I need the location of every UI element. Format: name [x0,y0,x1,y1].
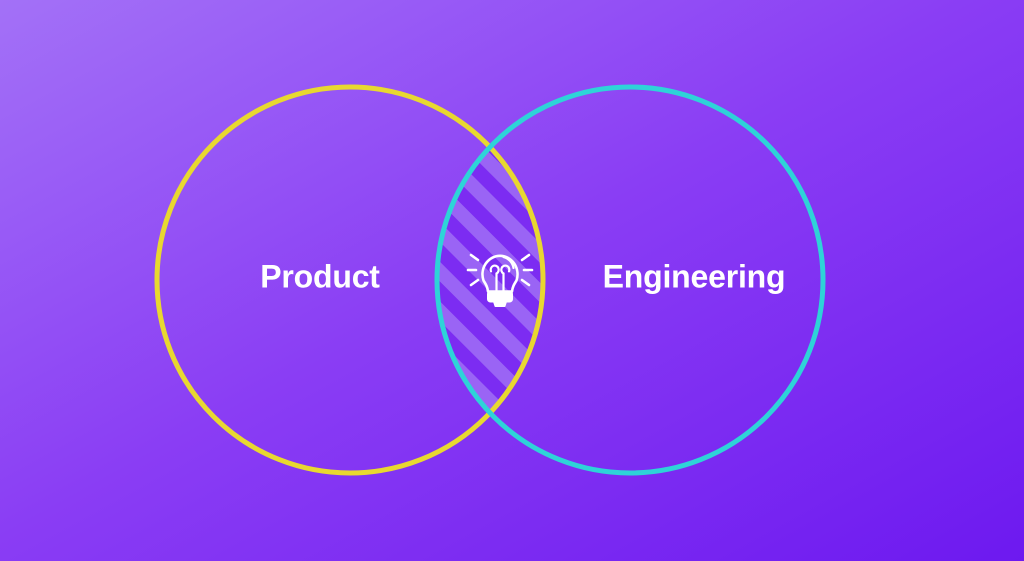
venn-diagram-svg: Product Engineering [0,0,1024,561]
venn-diagram-canvas: Product Engineering [0,0,1024,561]
lightbulb-base-tip [494,302,506,307]
label-product: Product [260,258,380,294]
label-engineering: Engineering [603,258,786,294]
lightbulb-base [488,292,512,302]
